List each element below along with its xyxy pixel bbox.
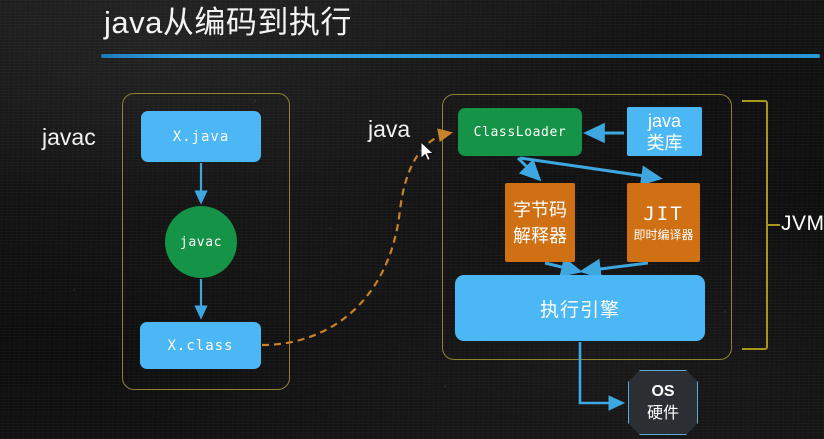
java-stage-label: java xyxy=(368,116,410,142)
title-underline xyxy=(101,54,820,58)
node-x-java[interactable]: X.java xyxy=(141,111,261,162)
node-jit-line1: JIT xyxy=(643,202,683,226)
page-title: java从编码到执行 xyxy=(104,2,352,44)
node-interpreter-line2: 解释器 xyxy=(513,223,567,249)
node-os-hardware[interactable]: OS 硬件 xyxy=(628,370,698,435)
jvm-bracket xyxy=(742,100,768,350)
node-os-line2: 硬件 xyxy=(647,403,679,425)
node-interpreter-line1: 字节码 xyxy=(513,197,567,223)
node-classloader[interactable]: ClassLoader xyxy=(458,108,582,156)
mouse-cursor-icon xyxy=(420,141,436,163)
node-java-class-library[interactable]: java 类库 xyxy=(627,107,702,156)
node-x-class[interactable]: X.class xyxy=(140,322,261,369)
node-x-class-label: X.class xyxy=(167,338,233,354)
javac-stage-label: javac xyxy=(42,124,96,150)
node-java-library-line2: 类库 xyxy=(647,132,683,154)
node-jit-line2: 即时编译器 xyxy=(633,226,693,244)
edge-xclass-to-classloader xyxy=(262,133,450,345)
node-classloader-label: ClassLoader xyxy=(474,125,567,140)
node-os-line1: OS xyxy=(651,381,674,403)
slide-canvas: java从编码到执行 javac JVM java xyxy=(0,0,824,439)
node-javac-label: javac xyxy=(180,235,222,250)
node-java-library-line1: java xyxy=(648,110,681,132)
node-x-java-label: X.java xyxy=(173,129,230,145)
node-jit-compiler[interactable]: JIT 即时编译器 xyxy=(627,183,700,262)
jvm-label: JVM xyxy=(781,212,824,236)
node-bytecode-interpreter[interactable]: 字节码 解释器 xyxy=(505,183,575,262)
node-javac-compiler[interactable]: javac xyxy=(165,206,237,278)
jvm-bracket-stem xyxy=(766,224,780,226)
node-execution-engine-label: 执行引擎 xyxy=(540,295,620,322)
node-execution-engine[interactable]: 执行引擎 xyxy=(455,275,705,341)
